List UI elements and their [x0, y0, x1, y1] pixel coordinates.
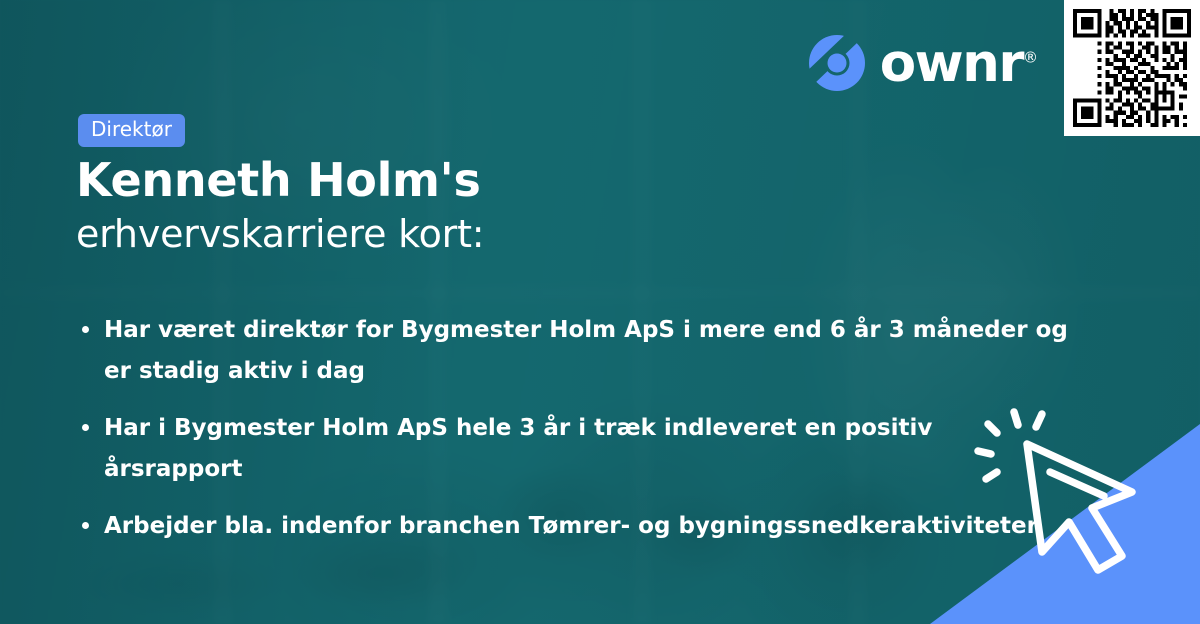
brand-logo[interactable]: ownr® [808, 34, 1038, 92]
list-item: Har i Bygmester Holm ApS hele 3 år i træ… [76, 408, 1076, 490]
business-card-banner: ownr® [0, 0, 1200, 624]
brand-wordmark: ownr® [880, 37, 1038, 90]
career-highlights-list: Har været direktør for Bygmester Holm Ap… [76, 310, 1076, 547]
ownr-circle-swoosh-icon [808, 34, 866, 92]
page-title: Kenneth Holm's erhvervskarriere kort: [76, 155, 896, 255]
list-item: Arbejder bla. indenfor branchen Tømrer- … [76, 506, 1076, 547]
brand-name-text: ownr [880, 33, 1023, 94]
list-item: Har været direktør for Bygmester Holm Ap… [76, 310, 1076, 392]
headline-line-1: Kenneth Holm's [76, 155, 896, 207]
registered-trademark-icon: ® [1023, 48, 1038, 66]
qr-code-icon[interactable] [1064, 0, 1200, 136]
role-badge: Direktør [78, 114, 185, 147]
headline-line-2: erhvervskarriere kort: [76, 213, 896, 256]
